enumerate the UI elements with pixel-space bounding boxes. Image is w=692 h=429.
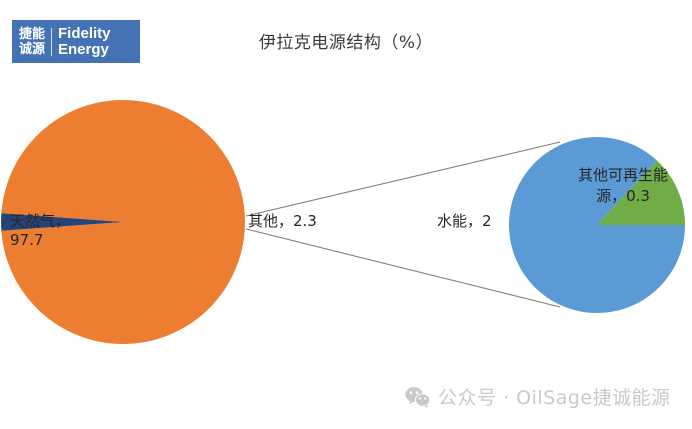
data-label-natural-gas-line-2: 97.7 <box>10 231 70 250</box>
chart-canvas: 捷能 诚源 Fidelity Energy 伊拉克电源结构（%） <box>0 0 692 429</box>
footer-attribution: 公众号 · OilSage捷诚能源 <box>405 383 671 410</box>
footer-text: 公众号 · OilSage捷诚能源 <box>438 383 671 410</box>
data-label-other-renewable-line-2: 源，0.3 <box>563 186 683 207</box>
data-label-natural-gas: 天然气， 97.7 <box>10 212 70 250</box>
data-label-other-renewable-line-1: 其他可再生能 <box>563 165 683 186</box>
data-label-natural-gas-line-1: 天然气， <box>10 212 70 231</box>
data-label-other: 其他，2.3 <box>248 212 317 231</box>
pie-of-pie-graphic <box>0 0 692 429</box>
wechat-icon <box>405 386 431 408</box>
secondary-pie <box>509 137 685 313</box>
data-label-other-renewable: 其他可再生能 源，0.3 <box>563 165 683 207</box>
data-label-hydro: 水能，2 <box>437 212 492 231</box>
